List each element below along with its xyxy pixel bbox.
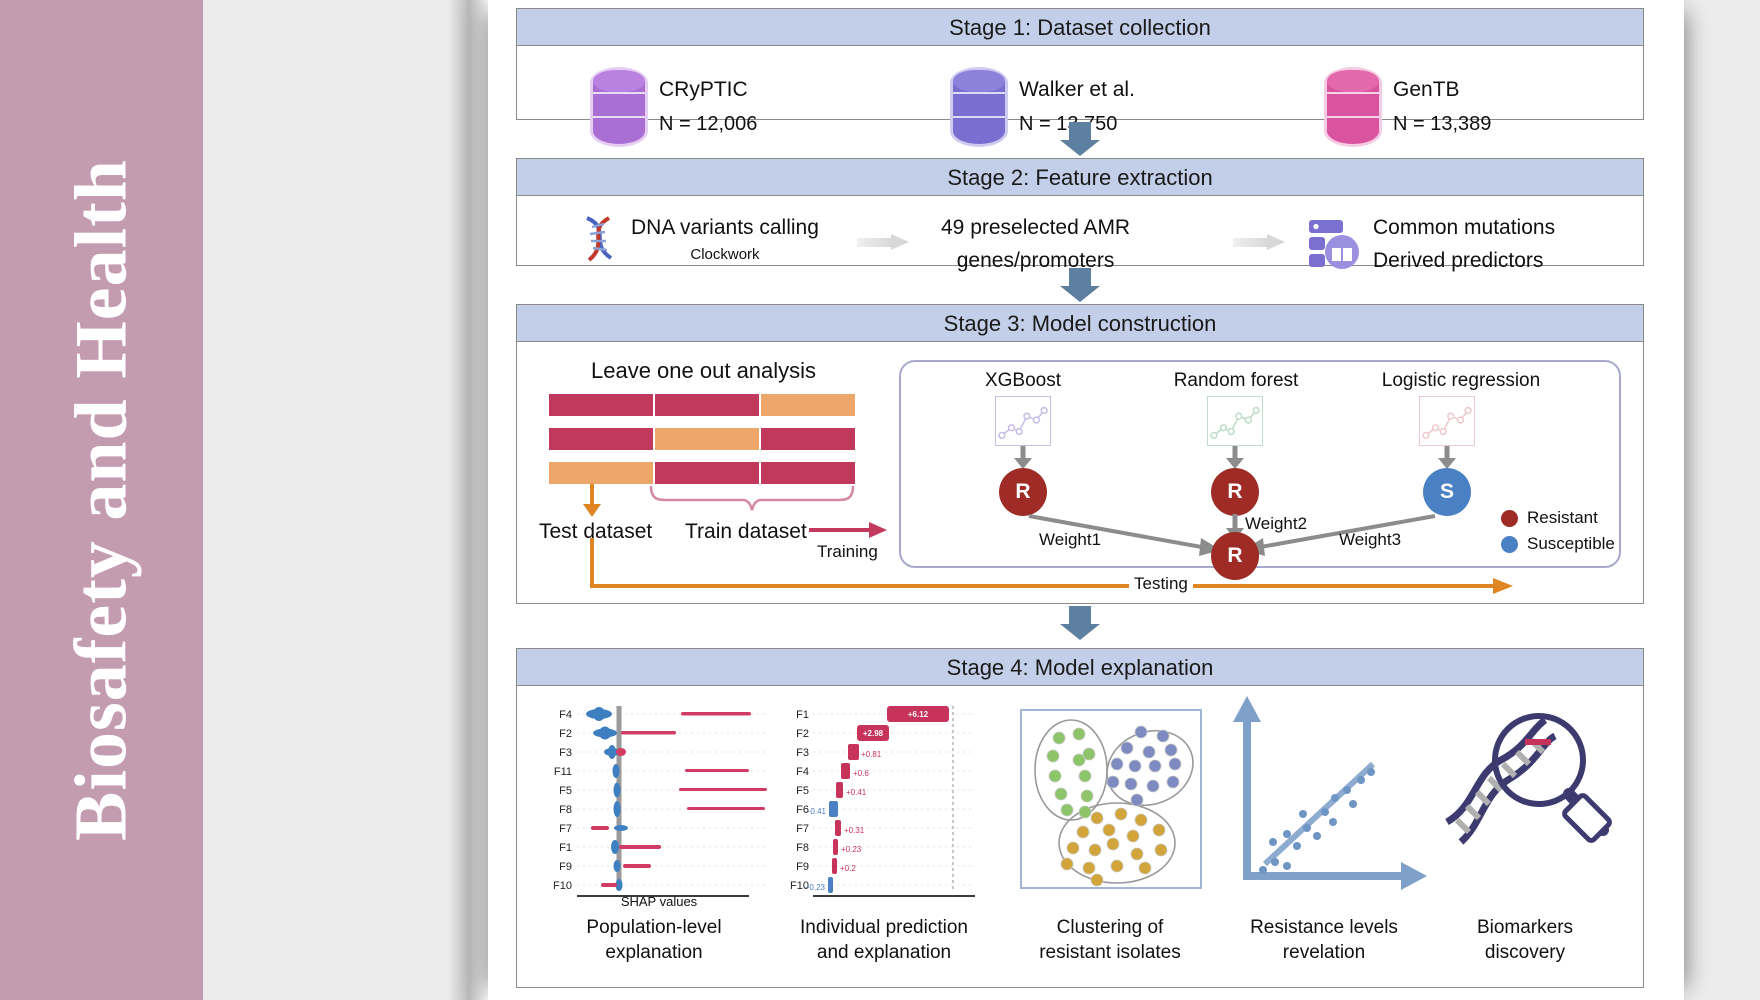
stage-4-title: Stage 4: Model explanation	[517, 649, 1643, 686]
test-dataset-arrow	[579, 484, 605, 518]
svg-text:F3: F3	[559, 747, 572, 759]
svg-text:+6.12: +6.12	[908, 710, 929, 719]
model-chart-icon	[995, 396, 1051, 446]
svg-text:+2.98: +2.98	[863, 729, 884, 738]
flow-arrow-2-to-3	[1060, 268, 1100, 302]
svg-text:+0.81: +0.81	[861, 750, 882, 759]
grey-arrow-1	[857, 234, 909, 250]
dataset-name: GenTB	[1393, 78, 1460, 101]
shap-waterfall-plot: F1F2F3 F4F5F6 F7F8F9 F10	[779, 700, 979, 905]
caption-resistance-levels: Resistance levels revelation	[1219, 916, 1429, 965]
flow-arrow-1-to-2	[1060, 122, 1100, 156]
dna-icon	[577, 214, 621, 270]
caption-line: resistant isolates	[1005, 941, 1215, 966]
caption-biomarkers: Biomarkers discovery	[1425, 916, 1625, 965]
stage-2-box: Stage 2: Feature extraction DNA variants…	[516, 158, 1644, 266]
ensemble-output-node: R	[1211, 532, 1259, 580]
stage-4-box: Stage 4: Model explanation F4F2F3 F11F5F…	[516, 648, 1644, 988]
shap-axis-label: SHAP values	[569, 894, 749, 911]
caption-population-level: Population-level explanation	[539, 916, 769, 965]
fold-row	[549, 428, 849, 450]
train-brace	[649, 484, 855, 512]
feature-step-sublabel: Clockwork	[631, 246, 819, 263]
dataset-walker: Walker et al. N = 13,750	[953, 70, 1135, 144]
model-down-arrow	[1437, 446, 1457, 470]
svg-text:+0.23: +0.23	[841, 845, 862, 854]
feature-step-dna: DNA variants calling Clockwork	[577, 214, 819, 270]
svg-text:F4: F4	[796, 766, 809, 778]
database-cylinder-icon	[593, 70, 645, 144]
legend-label-susceptible: Susceptible	[1527, 534, 1615, 554]
caption-line: discovery	[1425, 941, 1625, 966]
svg-text:F1: F1	[796, 709, 809, 721]
caption-line: Biomarkers	[1425, 916, 1625, 941]
caption-individual-prediction: Individual prediction and explanation	[769, 916, 999, 965]
model-title-random-forest: Random forest	[1141, 370, 1331, 392]
svg-text:F7: F7	[559, 823, 572, 835]
scatter-points	[1259, 768, 1375, 874]
svg-text:F11: F11	[554, 766, 572, 778]
feature-step-label-line2: genes/promoters	[941, 247, 1130, 274]
feature-step-amr: 49 preselected AMR genes/promoters	[941, 214, 1130, 275]
svg-text:F2: F2	[559, 728, 572, 740]
stage-3-box: Stage 3: Model construction Leave one ou…	[516, 304, 1644, 604]
dataset-cryptic: CRyPTIC N = 12,006	[593, 70, 757, 144]
dataset-count: N = 12,006	[659, 111, 757, 138]
svg-text:F9: F9	[559, 861, 572, 873]
caption-line: Clustering of	[1005, 916, 1215, 941]
weight2-label: Weight2	[1245, 514, 1307, 534]
figure-page: Stage 1: Dataset collection CRyPTIC N = …	[488, 0, 1684, 1000]
svg-text:−0.23: −0.23	[805, 883, 826, 892]
svg-text:+0.2: +0.2	[840, 864, 856, 873]
svg-text:+0.6: +0.6	[853, 769, 869, 778]
svg-text:+0.31: +0.31	[844, 826, 865, 835]
legend-dot-resistant	[1501, 510, 1518, 527]
caption-line: explanation	[539, 941, 769, 966]
shap-beeswarm-plot: F4F2F3 F11F5F8 F7F1F9 F10	[539, 700, 769, 905]
fold-row	[549, 462, 849, 484]
model-title-xgboost: XGBoost	[933, 370, 1113, 392]
weight1-label: Weight1	[1039, 530, 1101, 550]
model-down-arrow	[1013, 446, 1033, 470]
svg-text:F8: F8	[559, 804, 572, 816]
dataset-name: CRyPTIC	[659, 78, 748, 101]
slide-area: Stage 1: Dataset collection CRyPTIC N = …	[203, 0, 1760, 1000]
svg-text:F3: F3	[796, 747, 809, 759]
legend-dot-susceptible	[1501, 536, 1518, 553]
model-chart-icon	[1419, 396, 1475, 446]
svg-text:F10: F10	[553, 880, 572, 892]
feature-step-label-line1: 49 preselected AMR	[941, 214, 1130, 241]
axis-arrows	[1233, 696, 1427, 890]
database-book-icon	[1307, 218, 1363, 270]
model-output-node-logistic-regression: S	[1423, 468, 1471, 516]
model-title-logistic-regression: Logistic regression	[1351, 370, 1571, 392]
svg-text:F9: F9	[796, 861, 809, 873]
svg-text:F4: F4	[559, 709, 572, 721]
caption-line: and explanation	[769, 941, 999, 966]
ensemble-model-box: XGBoost Random forest Logistic regressio…	[899, 360, 1621, 568]
legend-item-susceptible: Susceptible	[1501, 534, 1615, 554]
dataset-count: N = 13,389	[1393, 111, 1491, 138]
stage-1-title: Stage 1: Dataset collection	[517, 9, 1643, 46]
journal-banner: Biosafety and Health	[0, 0, 203, 1000]
database-cylinder-icon	[1327, 70, 1379, 144]
svg-text:F2: F2	[796, 728, 809, 740]
svg-text:F8: F8	[796, 842, 809, 854]
cluster-plot	[1017, 708, 1207, 893]
svg-text:F5: F5	[796, 785, 809, 797]
model-output-node-xgboost: R	[999, 468, 1047, 516]
biomarkers-icon	[1427, 702, 1617, 892]
weight3-label: Weight3	[1339, 530, 1401, 550]
database-cylinder-icon	[953, 70, 1005, 144]
svg-text:F5: F5	[559, 785, 572, 797]
stage-2-title: Stage 2: Feature extraction	[517, 159, 1643, 196]
stage-3-title: Stage 3: Model construction	[517, 305, 1643, 342]
dataset-text: CRyPTIC N = 12,006	[659, 76, 757, 137]
dataset-text: GenTB N = 13,389	[1393, 76, 1491, 137]
feature-step-label-line1: Common mutations	[1373, 214, 1555, 241]
caption-line: revelation	[1219, 941, 1429, 966]
page-shadow	[448, 0, 490, 1000]
journal-title: Biosafety and Health	[59, 159, 144, 841]
svg-text:+0.41: +0.41	[846, 788, 867, 797]
model-chart-icon	[1207, 396, 1263, 446]
testing-label: Testing	[1129, 574, 1193, 594]
svg-text:F7: F7	[796, 823, 809, 835]
feature-step-label: DNA variants calling	[631, 214, 819, 241]
model-down-arrow	[1225, 446, 1245, 470]
legend: Resistant Susceptible	[1501, 508, 1615, 560]
dataset-name: Walker et al.	[1019, 78, 1135, 101]
svg-text:−0.41: −0.41	[806, 807, 827, 816]
caption-line: Individual prediction	[769, 916, 999, 941]
grey-arrow-2	[1233, 234, 1285, 250]
legend-item-resistant: Resistant	[1501, 508, 1615, 528]
leave-one-out-title: Leave one out analysis	[591, 358, 816, 384]
feature-step-predictors: Common mutations Derived predictors	[1307, 214, 1555, 275]
legend-label-resistant: Resistant	[1527, 508, 1598, 528]
caption-clustering: Clustering of resistant isolates	[1005, 916, 1215, 965]
model-output-node-random-forest: R	[1211, 468, 1259, 516]
stage-1-box: Stage 1: Dataset collection CRyPTIC N = …	[516, 8, 1644, 120]
svg-text:F1: F1	[559, 842, 572, 854]
resistance-levels-plot	[1229, 694, 1429, 894]
caption-line: Population-level	[539, 916, 769, 941]
feature-step-label-line2: Derived predictors	[1373, 247, 1555, 274]
caption-line: Resistance levels	[1219, 916, 1429, 941]
fold-row	[549, 394, 849, 416]
dataset-gentb: GenTB N = 13,389	[1327, 70, 1491, 144]
flow-arrow-3-to-4	[1060, 606, 1100, 640]
